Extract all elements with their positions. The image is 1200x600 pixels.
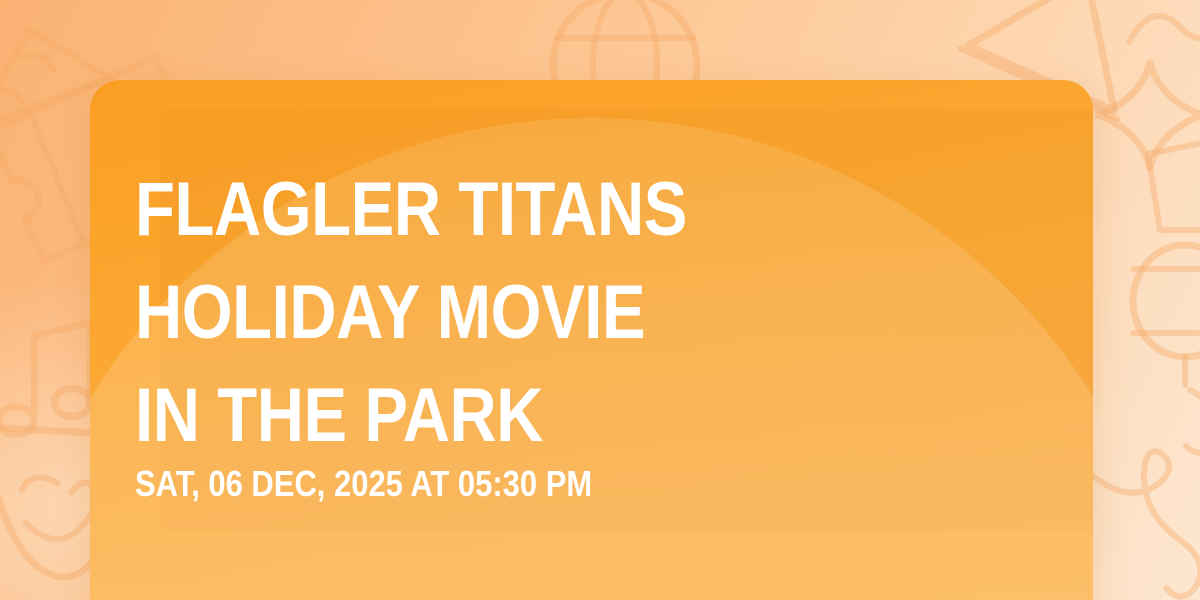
event-date: SAT, 06 DEC, 2025 AT 05:30 PM [135, 462, 592, 506]
event-banner: FLAGLER TITANS HOLIDAY MOVIE IN THE PARK… [0, 0, 1200, 600]
event-card[interactable]: FLAGLER TITANS HOLIDAY MOVIE IN THE PARK… [90, 80, 1093, 600]
event-title: FLAGLER TITANS HOLIDAY MOVIE IN THE PARK [135, 158, 909, 467]
card-content: FLAGLER TITANS HOLIDAY MOVIE IN THE PARK… [135, 80, 1053, 600]
